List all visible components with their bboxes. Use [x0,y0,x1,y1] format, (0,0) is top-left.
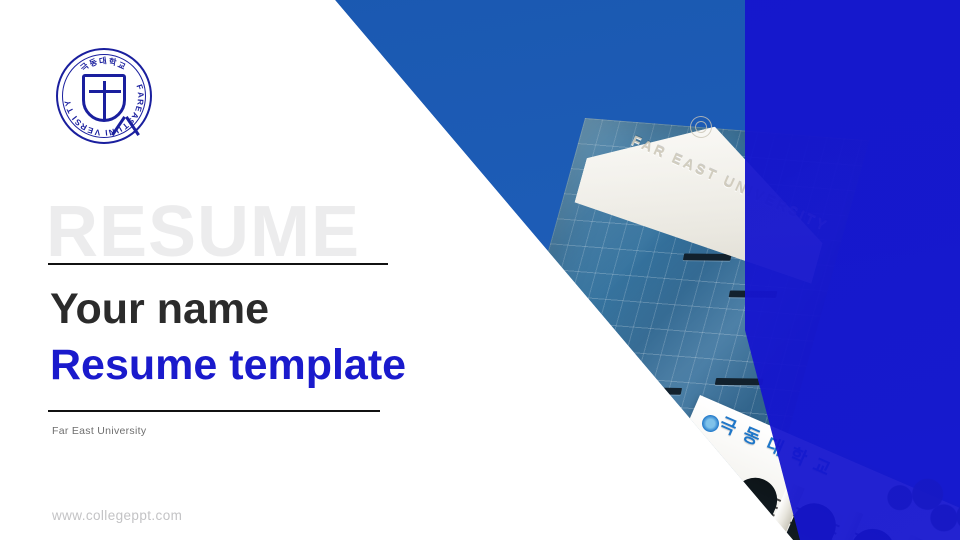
logo-arc-bottom-text: FAREASTUNIVERSITY [56,48,152,144]
divider-top [48,263,388,265]
university-subtitle: Far East University [52,425,146,437]
name-placeholder[interactable]: Your name [50,286,269,332]
logo-arc-char: V [94,127,100,137]
logo-arc-char: A [136,91,146,98]
title-text-panel: 극동대학교 FAREASTUNIVERSITY RESUME Your name… [0,0,520,540]
logo-arc-char: F [134,83,144,91]
divider-bottom [48,410,380,412]
logo-arc-char: R [135,99,144,106]
university-logo: 극동대학교 FAREASTUNIVERSITY [56,48,152,144]
watermark-heading: RESUME [46,196,360,268]
source-url: www.collegeppt.com [52,508,182,523]
resume-title-slide: FAR EAST UNIVERSITY 극동대학교 [0,0,960,540]
logo-arc-char: T [65,106,75,115]
template-title[interactable]: Resume template [50,342,406,388]
logo-arc-char: E [87,125,95,135]
